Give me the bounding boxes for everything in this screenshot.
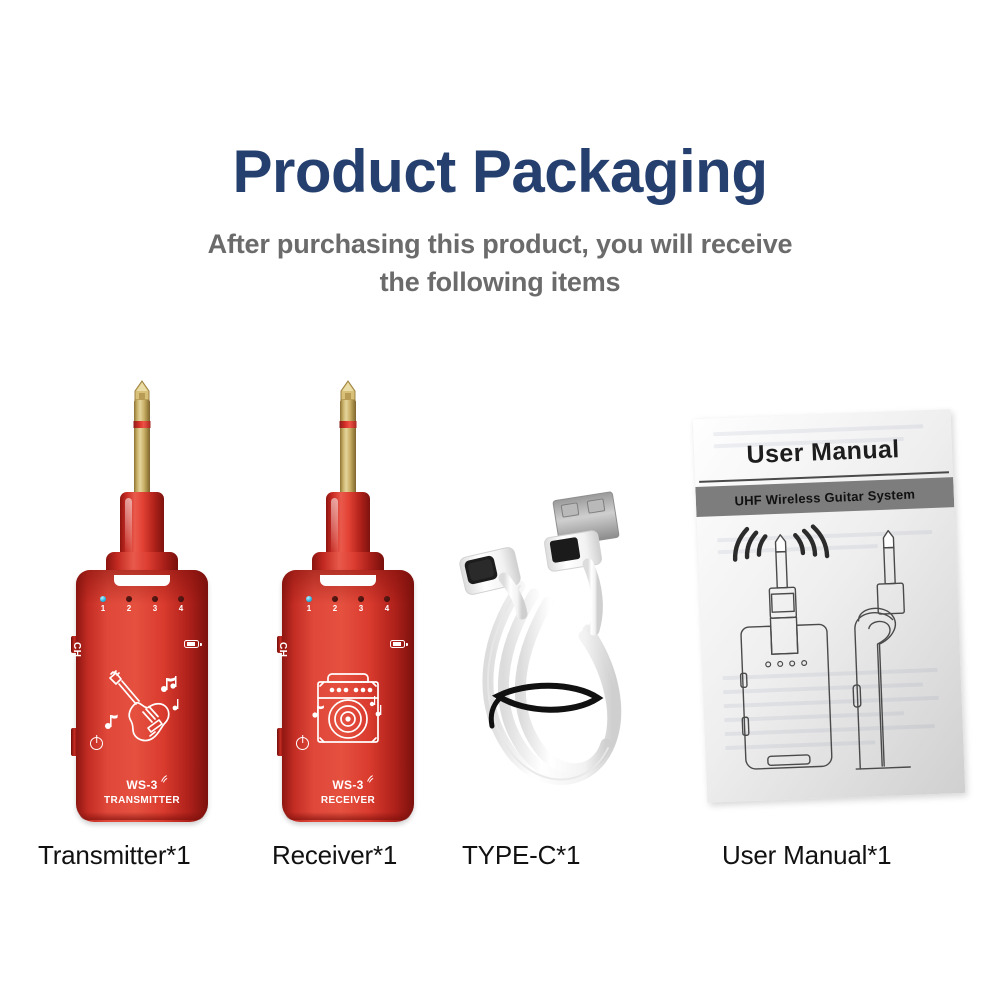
model-block: WS-3 RECEIVER — [282, 776, 414, 806]
page-subtitle: After purchasing this product, you will … — [0, 225, 1000, 302]
header: Product Packaging After purchasing this … — [0, 140, 1000, 302]
type-c-cable — [448, 490, 638, 820]
led-indicator-group: 1 2 3 4 — [76, 596, 208, 613]
led-dot-icon — [100, 596, 106, 602]
body-clip-notch — [114, 575, 170, 586]
led-dot-icon — [358, 596, 364, 602]
item-cable — [448, 490, 638, 820]
item-transmitter: 1 2 3 4 — [62, 380, 222, 825]
wireless-wave-icon — [160, 774, 169, 783]
receiver-body: 1 2 3 4 — [282, 570, 414, 822]
caption-transmitter: Transmitter*1 — [38, 840, 190, 871]
electric-guitar-icon — [96, 668, 188, 754]
body-bottom-lip — [285, 812, 411, 820]
plug-ring — [340, 421, 357, 428]
model-name: WS-3 — [332, 779, 363, 792]
plug-ring — [134, 421, 151, 428]
item-user-manual: User Manual UHF Wireless Guitar System — [700, 414, 958, 798]
led-number: 4 — [179, 605, 183, 613]
caption-cable: TYPE-C*1 — [462, 840, 580, 871]
model-block: WS-3 TRANSMITTER — [76, 776, 208, 806]
led-dot-icon — [332, 596, 338, 602]
subtitle-line-1: After purchasing this product, you will … — [0, 225, 1000, 263]
battery-icon — [184, 640, 199, 648]
led-number: 3 — [359, 605, 363, 613]
led-dot-icon — [126, 596, 132, 602]
cable-illustration — [448, 490, 638, 820]
led-number: 1 — [101, 605, 105, 613]
captions-row: Transmitter*1 Receiver*1 TYPE-C*1 User M… — [0, 840, 1000, 890]
led-2: 2 — [332, 596, 338, 613]
led-indicator-group: 1 2 3 4 — [282, 596, 414, 613]
led-number: 4 — [385, 605, 389, 613]
led-2: 2 — [126, 596, 132, 613]
user-manual: User Manual UHF Wireless Guitar System — [693, 409, 966, 803]
led-number: 1 — [307, 605, 311, 613]
led-number: 3 — [153, 605, 157, 613]
receiver-device: 1 2 3 4 — [268, 380, 428, 825]
power-button[interactable] — [71, 728, 77, 756]
transmitter-body: 1 2 3 4 — [76, 570, 208, 822]
manual-device-diagram — [705, 513, 957, 788]
product-packaging-page: Product Packaging After purchasing this … — [0, 0, 1000, 1000]
body-clip-notch — [320, 575, 376, 586]
guitar-amplifier-icon — [302, 668, 394, 754]
items-row: 1 2 3 4 — [0, 372, 1000, 872]
led-3: 3 — [152, 596, 158, 613]
subtitle-line-2: the following items — [0, 263, 1000, 301]
device-role: TRANSMITTER — [76, 795, 208, 806]
caption-manual: User Manual*1 — [722, 840, 891, 871]
item-receiver: 1 2 3 4 — [268, 380, 428, 825]
device-role: RECEIVER — [282, 795, 414, 806]
power-button[interactable] — [277, 728, 283, 756]
led-4: 4 — [384, 596, 390, 613]
led-3: 3 — [358, 596, 364, 613]
wireless-wave-icon — [366, 774, 375, 783]
battery-icon — [390, 640, 405, 648]
led-1: 1 — [100, 596, 106, 613]
led-dot-icon — [384, 596, 390, 602]
led-dot-icon — [306, 596, 312, 602]
led-4: 4 — [178, 596, 184, 613]
usb-a-connector — [544, 492, 620, 630]
caption-receiver: Receiver*1 — [272, 840, 397, 871]
led-number: 2 — [333, 605, 337, 613]
model-name: WS-3 — [126, 779, 157, 792]
body-bottom-lip — [79, 812, 205, 820]
channel-label: CH — [71, 642, 82, 657]
led-number: 2 — [127, 605, 131, 613]
channel-label: CH — [277, 642, 288, 657]
led-1: 1 — [306, 596, 312, 613]
manual-subtitle: UHF Wireless Guitar System — [734, 486, 915, 508]
led-dot-icon — [152, 596, 158, 602]
transmitter-device: 1 2 3 4 — [62, 380, 222, 825]
led-dot-icon — [178, 596, 184, 602]
page-title: Product Packaging — [0, 140, 1000, 203]
